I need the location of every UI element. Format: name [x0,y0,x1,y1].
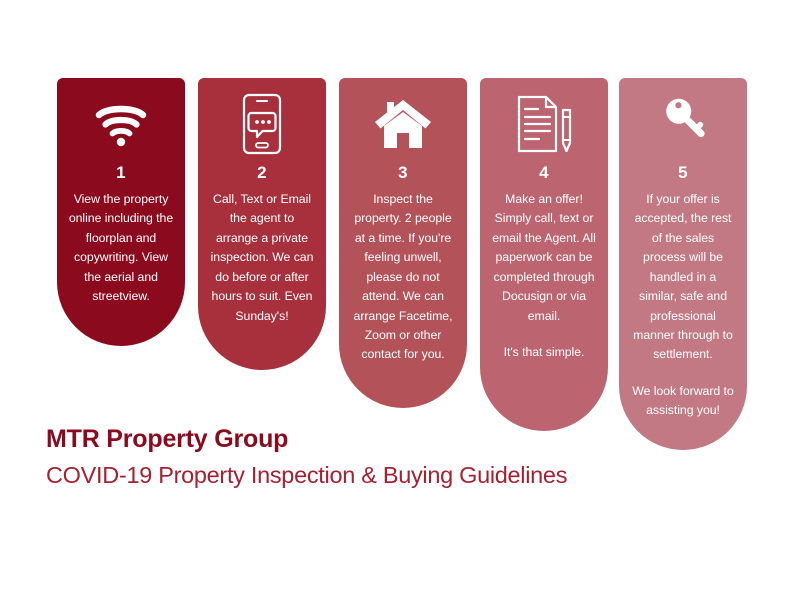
step-paragraph-2: Call, Text or Email the agent to arrange… [211,192,314,323]
infographic-canvas: 1 View the property online including the… [0,0,800,600]
footer-titles: MTR Property Group COVID-19 Property Ins… [46,424,746,492]
step-paragraph-1: View the property online including the f… [69,192,173,303]
steps-container: 1 View the property online including the… [57,78,747,448]
step-paragraph-5: If your offer is accepted, the rest of t… [633,192,733,361]
step-number-2: 2 [204,164,320,181]
step-paragraph-4: Make an offer! Simply call, text or emai… [492,192,596,323]
step-text-2: Call, Text or Email the agent to arrange… [204,190,320,326]
step-number-3: 3 [345,164,461,181]
key-icon [625,78,741,164]
step-column-5: 5 If your offer is accepted, the rest of… [619,78,747,450]
step-column-1: 1 View the property online including the… [57,78,185,346]
step-column-4: 4 Make an offer! Simply call, text or em… [480,78,608,431]
document-pen-icon [486,78,602,164]
page-subtitle: COVID-19 Property Inspection & Buying Gu… [46,460,746,492]
step-paragraph-3: Inspect the property. 2 people at a time… [354,192,453,361]
step-paragraph-4b: It's that simple. [491,343,597,362]
brand-title: MTR Property Group [46,424,746,454]
step-number-5: 5 [625,164,741,181]
smartphone-chat-icon [204,78,320,164]
step-paragraph-5b: We look forward to assisting you! [630,382,736,421]
step-number-1: 1 [63,164,179,181]
step-text-1: View the property online including the f… [63,190,179,307]
step-text-4: Make an offer! Simply call, text or emai… [486,190,602,362]
house-icon [345,78,461,164]
step-column-3: 3 Inspect the property. 2 people at a ti… [339,78,467,408]
wifi-icon [63,78,179,164]
step-text-5: If your offer is accepted, the rest of t… [625,190,741,421]
step-column-2: 2 Call, Text or Email the agent to arran… [198,78,326,370]
step-text-3: Inspect the property. 2 people at a time… [345,190,461,365]
step-number-4: 4 [486,164,602,181]
